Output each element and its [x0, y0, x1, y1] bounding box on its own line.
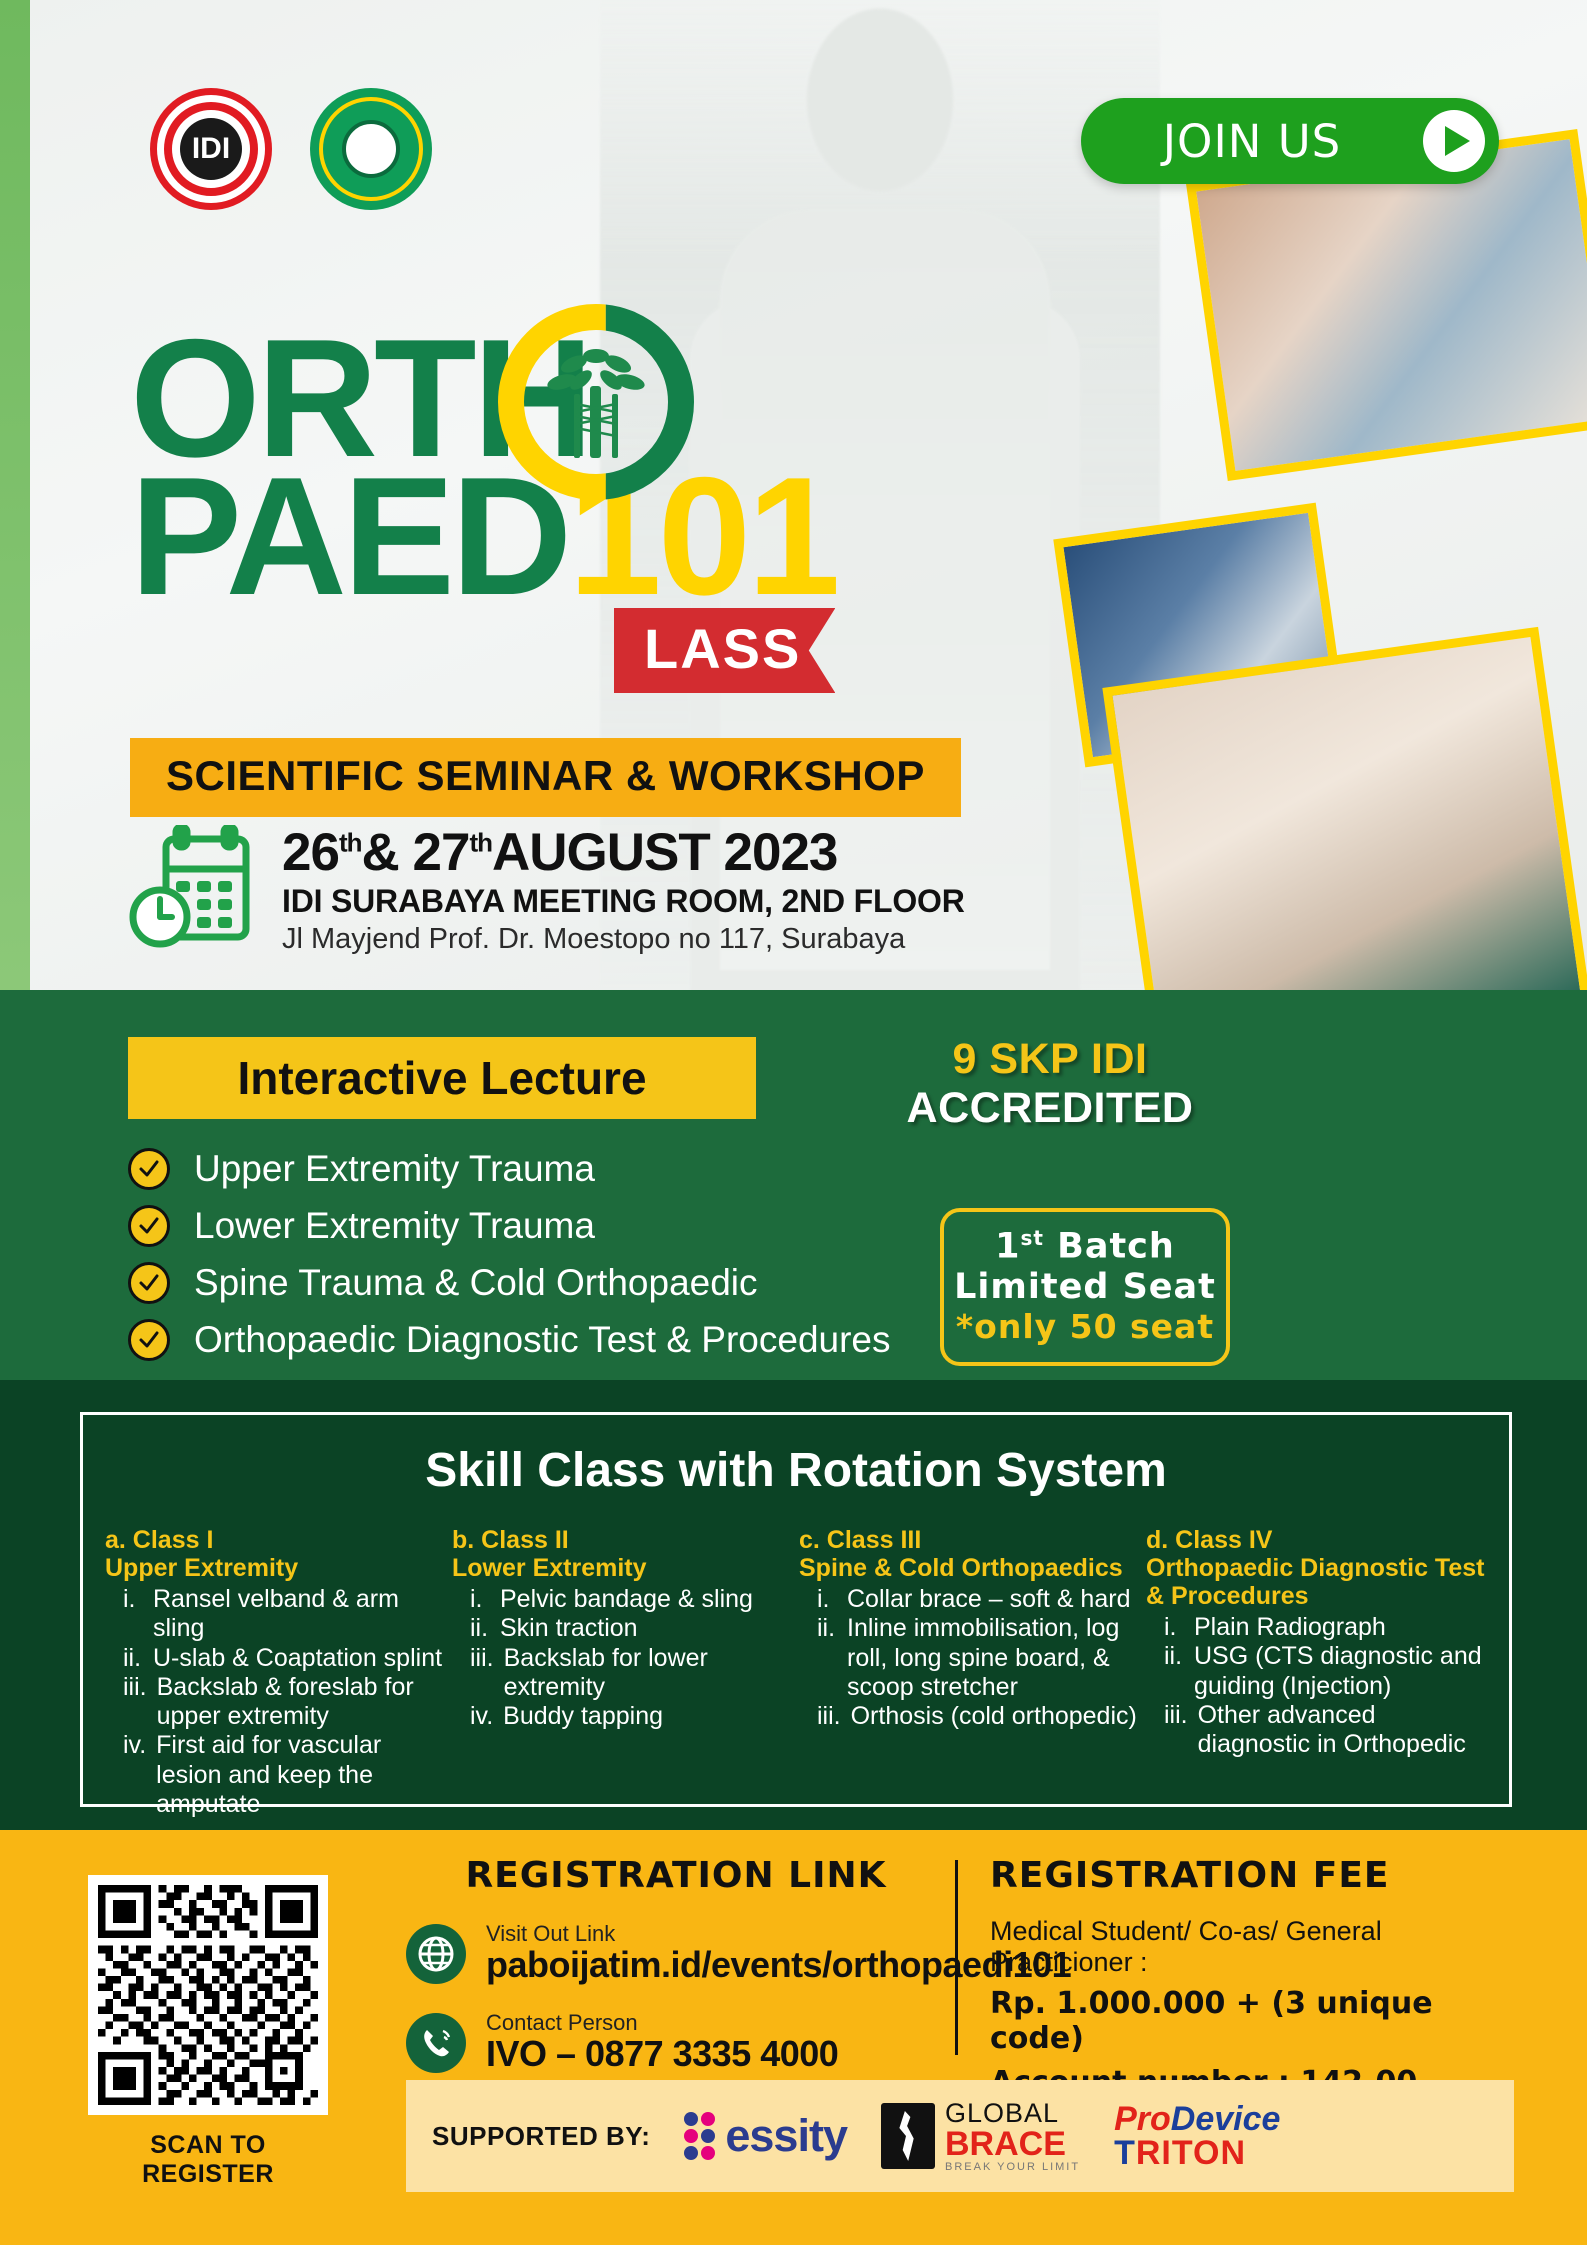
item-numeral: i. — [799, 1585, 837, 1614]
list-item: iii.Other advanced diagnostic in Orthope… — [1146, 1701, 1487, 1760]
list-item: Orthopaedic Diagnostic Test & Procedures — [128, 1319, 891, 1361]
registration-fee-heading: REGISTRATION FEE — [990, 1855, 1530, 1896]
limited-seat-label: Limited Seat — [954, 1267, 1216, 1307]
photo-bandaged-foot — [1102, 627, 1587, 990]
date-day-2-sup: th — [469, 827, 492, 857]
interactive-lecture-heading: Interactive Lecture — [128, 1037, 756, 1119]
item-text: Orthosis (cold orthopedic) — [851, 1702, 1140, 1731]
item-text: Inline immobilisation, log roll, long sp… — [847, 1614, 1140, 1702]
title-line-1: ORTH — [130, 330, 837, 468]
skill-column-name: Orthopaedic Diagnostic Test & Procedures — [1146, 1554, 1487, 1610]
lecture-topics-list: Upper Extremity Trauma Lower Extremity T… — [128, 1148, 891, 1376]
item-numeral: iv. — [105, 1731, 146, 1819]
list-item: i.Pelvic bandage & sling — [452, 1585, 793, 1614]
fee-price: Rp. 1.000.000 + (3 unique code) — [990, 1986, 1530, 2056]
list-item: Spine Trauma & Cold Orthopaedic — [128, 1262, 891, 1304]
global-brace-tagline: BREAK YOUR LIMIT — [945, 2161, 1080, 2173]
poster-title: ORTH — [130, 330, 837, 606]
lecture-topic-label: Lower Extremity Trauma — [194, 1205, 595, 1247]
join-us-button[interactable]: JOIN US — [1081, 98, 1499, 184]
item-numeral: i. — [105, 1585, 143, 1644]
lecture-topic-label: Spine Trauma & Cold Orthopaedic — [194, 1262, 758, 1304]
riton-word: RITON — [1136, 2134, 1246, 2172]
left-green-strip — [0, 0, 30, 990]
skill-class-card: Skill Class with Rotation System a. Clas… — [80, 1412, 1512, 1807]
skill-class-title: Skill Class with Rotation System — [83, 1415, 1509, 1498]
registration-link-block: REGISTRATION LINK Visit Out Link paboija… — [406, 1855, 946, 2074]
skill-column-key: c. Class III — [799, 1526, 1140, 1554]
item-numeral: ii. — [452, 1614, 490, 1643]
item-numeral: iii. — [452, 1644, 494, 1703]
list-item: ii.USG (CTS diagnostic and guiding (Inje… — [1146, 1642, 1487, 1701]
item-text: U-slab & Coaptation splint — [153, 1644, 446, 1673]
list-item: i.Ransel velband & arm sling — [105, 1585, 446, 1644]
footer-divider — [955, 1860, 958, 2055]
item-numeral: iii. — [1146, 1701, 1188, 1760]
qr-code-image — [98, 1885, 318, 2105]
limited-seat-box: 1st Batch Limited Seat *only 50 seat — [940, 1208, 1230, 1366]
skill-column-key: b. Class II — [452, 1526, 793, 1554]
skill-item-list: i.Pelvic bandage & sling ii.Skin tractio… — [452, 1585, 793, 1731]
skill-column-name: Spine & Cold Orthopaedics — [799, 1554, 1140, 1582]
list-item: iii.Backslab for lower extremity — [452, 1644, 793, 1703]
qr-code[interactable] — [88, 1875, 328, 2115]
visit-link-label: Visit Out Link — [486, 1922, 1071, 1946]
global-brace-line2: BRACE — [945, 2127, 1080, 2161]
essity-wordmark: essity — [725, 2110, 847, 2162]
batch-number: 1 — [995, 1227, 1020, 1267]
batch-word: Batch — [1044, 1227, 1175, 1267]
date-separator: & — [362, 823, 413, 882]
item-numeral: iii. — [105, 1673, 147, 1732]
interactive-lecture-label: Interactive Lecture — [237, 1051, 646, 1105]
prodevice-line1: ProDevice — [1114, 2102, 1280, 2136]
prodevice-wordmark: ProDevice TRITON — [1114, 2102, 1280, 2170]
skill-column-class-3: c. Class III Spine & Cold Orthopaedics i… — [799, 1526, 1140, 1819]
check-icon — [128, 1262, 170, 1304]
contact-person-value[interactable]: IVO – 0877 3335 4000 — [486, 2035, 838, 2074]
list-item: i.Collar brace – soft & hard — [799, 1585, 1140, 1614]
idi-logo-core: IDI — [180, 118, 242, 180]
list-item: ii.U-slab & Coaptation splint — [105, 1644, 446, 1673]
sponsor-essity: essity — [684, 2110, 847, 2162]
item-text: Pelvic bandage & sling — [500, 1585, 793, 1614]
item-text: Ransel velband & arm sling — [153, 1585, 446, 1644]
list-item: i.Plain Radiograph — [1146, 1613, 1487, 1642]
skill-item-list: i.Plain Radiograph ii.USG (CTS diagnosti… — [1146, 1613, 1487, 1759]
item-text: Backslab & foreslab for upper extremity — [157, 1673, 446, 1732]
website-row[interactable]: Visit Out Link paboijatim.id/events/orth… — [406, 1922, 946, 1985]
list-item: iv.Buddy tapping — [452, 1702, 793, 1731]
skill-item-list: i.Collar brace – soft & hard ii.Inline i… — [799, 1585, 1140, 1731]
item-numeral: ii. — [105, 1644, 143, 1673]
item-text: Skin traction — [500, 1614, 793, 1643]
check-icon — [128, 1205, 170, 1247]
riton-line: TRITON — [1114, 2136, 1280, 2170]
date-day-2: 27 — [413, 823, 470, 882]
item-numeral: i. — [452, 1585, 490, 1614]
registration-link-heading: REGISTRATION LINK — [406, 1855, 946, 1896]
skill-column-key: d. Class IV — [1146, 1526, 1487, 1554]
lass-ribbon: LASS — [614, 608, 835, 693]
contact-text: Contact Person IVO – 0877 3335 4000 — [486, 2011, 838, 2074]
date-day-1-sup: th — [339, 827, 362, 857]
item-numeral: ii. — [799, 1614, 837, 1702]
prodevice-device: Device — [1171, 2100, 1281, 2138]
subtitle-banner: SCIENTIFIC SEMINAR & WORKSHOP — [130, 738, 961, 817]
leaf-emblem-icon — [498, 304, 694, 500]
paboi-logo-core — [342, 120, 400, 178]
website-text: Visit Out Link paboijatim.id/events/orth… — [486, 1922, 1071, 1985]
date-month-year: AUGUST 2023 — [492, 823, 837, 882]
calendar-clock-icon — [128, 825, 256, 949]
sponsors-bar: SUPPORTED BY: essity GLOBAL BRACE BREAK … — [406, 2080, 1514, 2192]
item-numeral: ii. — [1146, 1642, 1184, 1701]
play-icon — [1423, 110, 1485, 172]
item-text: Collar brace – soft & hard — [847, 1585, 1140, 1614]
registration-url[interactable]: paboijatim.id/events/orthopaedi101 — [486, 1946, 1071, 1985]
item-numeral: iii. — [799, 1702, 841, 1731]
list-item: Lower Extremity Trauma — [128, 1205, 891, 1247]
event-date-text: 26th& 27thAUGUST 2023 IDI SURABAYA MEETI… — [282, 825, 965, 957]
date-day-1: 26 — [282, 823, 339, 882]
skill-class-columns: a. Class I Upper Extremity i.Ransel velb… — [83, 1498, 1509, 1819]
essity-dots-icon — [684, 2112, 715, 2160]
check-icon — [128, 1148, 170, 1190]
organization-logos: IDI — [150, 88, 432, 210]
item-numeral: i. — [1146, 1613, 1184, 1642]
accreditation-badge: 9 SKP IDI ACCREDITED — [880, 1035, 1220, 1133]
phone-icon — [406, 2013, 466, 2073]
riton-mark: T — [1114, 2134, 1136, 2172]
sponsor-global-brace: GLOBAL BRACE BREAK YOUR LIMIT — [881, 2100, 1080, 2173]
item-text: Buddy tapping — [503, 1702, 793, 1731]
list-item: iii.Backslab & foreslab for upper extrem… — [105, 1673, 446, 1732]
accreditation-skp: 9 SKP IDI — [880, 1035, 1220, 1084]
list-item: ii.Inline immobilisation, log roll, long… — [799, 1614, 1140, 1702]
event-venue: IDI SURABAYA MEETING ROOM, 2ND FLOOR — [282, 883, 965, 921]
sponsor-prodevice-riton: ProDevice TRITON — [1114, 2102, 1280, 2170]
accreditation-label: ACCREDITED — [880, 1084, 1220, 1133]
globe-icon — [406, 1924, 466, 1984]
item-text: Plain Radiograph — [1194, 1613, 1487, 1642]
item-text: First aid for vascular lesion and keep t… — [156, 1731, 446, 1819]
idi-logo: IDI — [150, 88, 272, 210]
paboi-logo — [310, 88, 432, 210]
prodevice-pro: Pro — [1114, 2100, 1171, 2138]
item-text: Backslab for lower extremity — [504, 1644, 793, 1703]
batch-ordinal: st — [1021, 1226, 1044, 1250]
skill-column-key: a. Class I — [105, 1526, 446, 1554]
tree-icon — [536, 342, 656, 462]
join-us-label: JOIN US — [1081, 115, 1423, 168]
scan-to-register-label: SCAN TO REGISTER — [88, 2131, 328, 2189]
event-date-line: 26th& 27thAUGUST 2023 — [282, 825, 965, 881]
lecture-topic-label: Upper Extremity Trauma — [194, 1148, 595, 1190]
fee-audience: Medical Student/ Co-as/ General Practici… — [990, 1916, 1530, 1978]
skill-column-class-4: d. Class IV Orthopaedic Diagnostic Test … — [1146, 1526, 1487, 1819]
seat-count-note: *only 50 seat — [954, 1307, 1216, 1346]
global-brace-wordmark: GLOBAL BRACE BREAK YOUR LIMIT — [945, 2100, 1080, 2173]
batch-line: 1st Batch — [954, 1226, 1216, 1267]
event-date-block: 26th& 27thAUGUST 2023 IDI SURABAYA MEETI… — [128, 825, 965, 957]
list-item: Upper Extremity Trauma — [128, 1148, 891, 1190]
contact-person-label: Contact Person — [486, 2011, 838, 2035]
skill-column-class-2: b. Class II Lower Extremity i.Pelvic ban… — [452, 1526, 793, 1819]
event-address: Jl Mayjend Prof. Dr. Moestopo no 117, Su… — [282, 922, 965, 957]
skill-item-list: i.Ransel velband & arm sling ii.U-slab &… — [105, 1585, 446, 1819]
global-brace-line1: GLOBAL — [945, 2100, 1080, 2127]
contact-row[interactable]: Contact Person IVO – 0877 3335 4000 — [406, 2011, 946, 2074]
supported-by-label: SUPPORTED BY: — [432, 2121, 650, 2152]
list-item: iii.Orthosis (cold orthopedic) — [799, 1702, 1140, 1731]
skill-column-name: Upper Extremity — [105, 1554, 446, 1582]
qr-code-block: SCAN TO REGISTER — [88, 1875, 328, 2189]
poster-root: IDI JOIN US ORTH — [0, 0, 1587, 2245]
item-text: USG (CTS diagnostic and guiding (Injecti… — [1194, 1642, 1487, 1701]
skill-column-name: Lower Extremity — [452, 1554, 793, 1582]
skill-column-class-1: a. Class I Upper Extremity i.Ransel velb… — [105, 1526, 446, 1819]
lecture-topic-label: Orthopaedic Diagnostic Test & Procedures — [194, 1319, 891, 1361]
global-brace-icon — [881, 2103, 935, 2169]
list-item: ii.Skin traction — [452, 1614, 793, 1643]
item-text: Other advanced diagnostic in Orthopedic — [1198, 1701, 1487, 1760]
item-numeral: iv. — [452, 1702, 493, 1731]
check-icon — [128, 1319, 170, 1361]
list-item: iv.First aid for vascular lesion and kee… — [105, 1731, 446, 1819]
